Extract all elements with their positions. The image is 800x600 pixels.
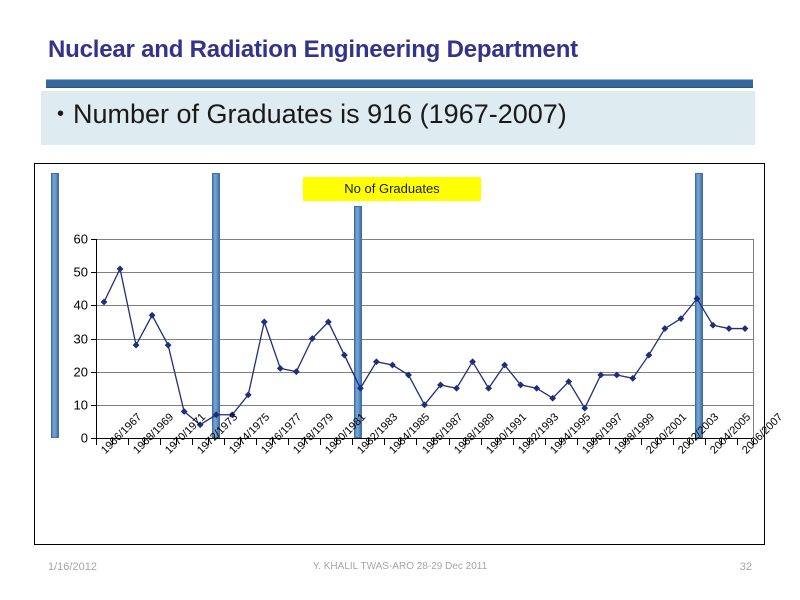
x-axis-tick [160, 439, 161, 445]
x-axis-tick [384, 439, 385, 445]
y-axis-tick-label: 30 [58, 331, 88, 346]
y-axis-tick-label: 20 [58, 364, 88, 379]
x-axis-tick [352, 439, 353, 445]
chart-plot-area: 0102030405060 [35, 164, 765, 545]
gridline [96, 239, 753, 240]
plot-right-border [753, 239, 754, 438]
y-axis-tick-label: 0 [58, 431, 88, 446]
x-axis-tick [737, 439, 738, 445]
x-axis-tick [224, 439, 225, 445]
page-title: Nuclear and Radiation Engineering Depart… [48, 36, 748, 64]
gridline [96, 305, 753, 306]
y-axis-tick [91, 239, 96, 240]
y-axis-tick-label: 40 [58, 298, 88, 313]
x-axis-tick [513, 439, 514, 445]
x-axis-tick [288, 439, 289, 445]
x-axis-tick [481, 439, 482, 445]
gridline [96, 339, 753, 340]
decorative-vertical-bar [212, 173, 220, 438]
x-axis-tick [705, 439, 706, 445]
decorative-vertical-bar [695, 173, 703, 438]
x-axis-tick [96, 439, 97, 445]
x-axis-tick [673, 439, 674, 445]
chart-container: 0102030405060 No of Graduates [34, 163, 765, 545]
y-axis-tick-label: 50 [58, 265, 88, 280]
subtitle-band: •Number of Graduates is 916 (1967-2007) [41, 91, 755, 145]
y-axis-tick [91, 339, 96, 340]
decorative-vertical-bar [354, 206, 362, 438]
gridline [96, 405, 753, 406]
y-axis-tick-label: 10 [58, 397, 88, 412]
x-axis-tick [609, 439, 610, 445]
y-axis-tick-label: 60 [58, 232, 88, 247]
x-axis-tick [577, 439, 578, 445]
footer-center-text: Y. KHALIL TWAS-ARO 28-29 Dec 2011 [0, 561, 800, 572]
title-divider-rule [46, 79, 753, 88]
subtitle-label: Number of Graduates is 916 (1967-2007) [73, 99, 567, 129]
x-axis-tick [256, 439, 257, 445]
x-axis-tick [128, 439, 129, 445]
bullet-glyph: • [57, 103, 73, 126]
x-axis-tick [641, 439, 642, 445]
decorative-vertical-bar [51, 173, 59, 438]
subtitle-line: •Number of Graduates is 916 (1967-2007) [57, 99, 567, 130]
x-axis-tick [192, 439, 193, 445]
y-axis-tick [91, 405, 96, 406]
x-axis-tick [449, 439, 450, 445]
gridline [96, 372, 753, 373]
chart-legend: No of Graduates [303, 177, 481, 201]
y-axis-line [96, 239, 97, 439]
y-axis-tick [91, 272, 96, 273]
x-axis-tick [320, 439, 321, 445]
footer-page-number: 32 [740, 561, 752, 573]
x-axis-tick [416, 439, 417, 445]
x-axis-tick [545, 439, 546, 445]
y-axis-tick [91, 372, 96, 373]
gridline [96, 272, 753, 273]
y-axis-tick [91, 305, 96, 306]
